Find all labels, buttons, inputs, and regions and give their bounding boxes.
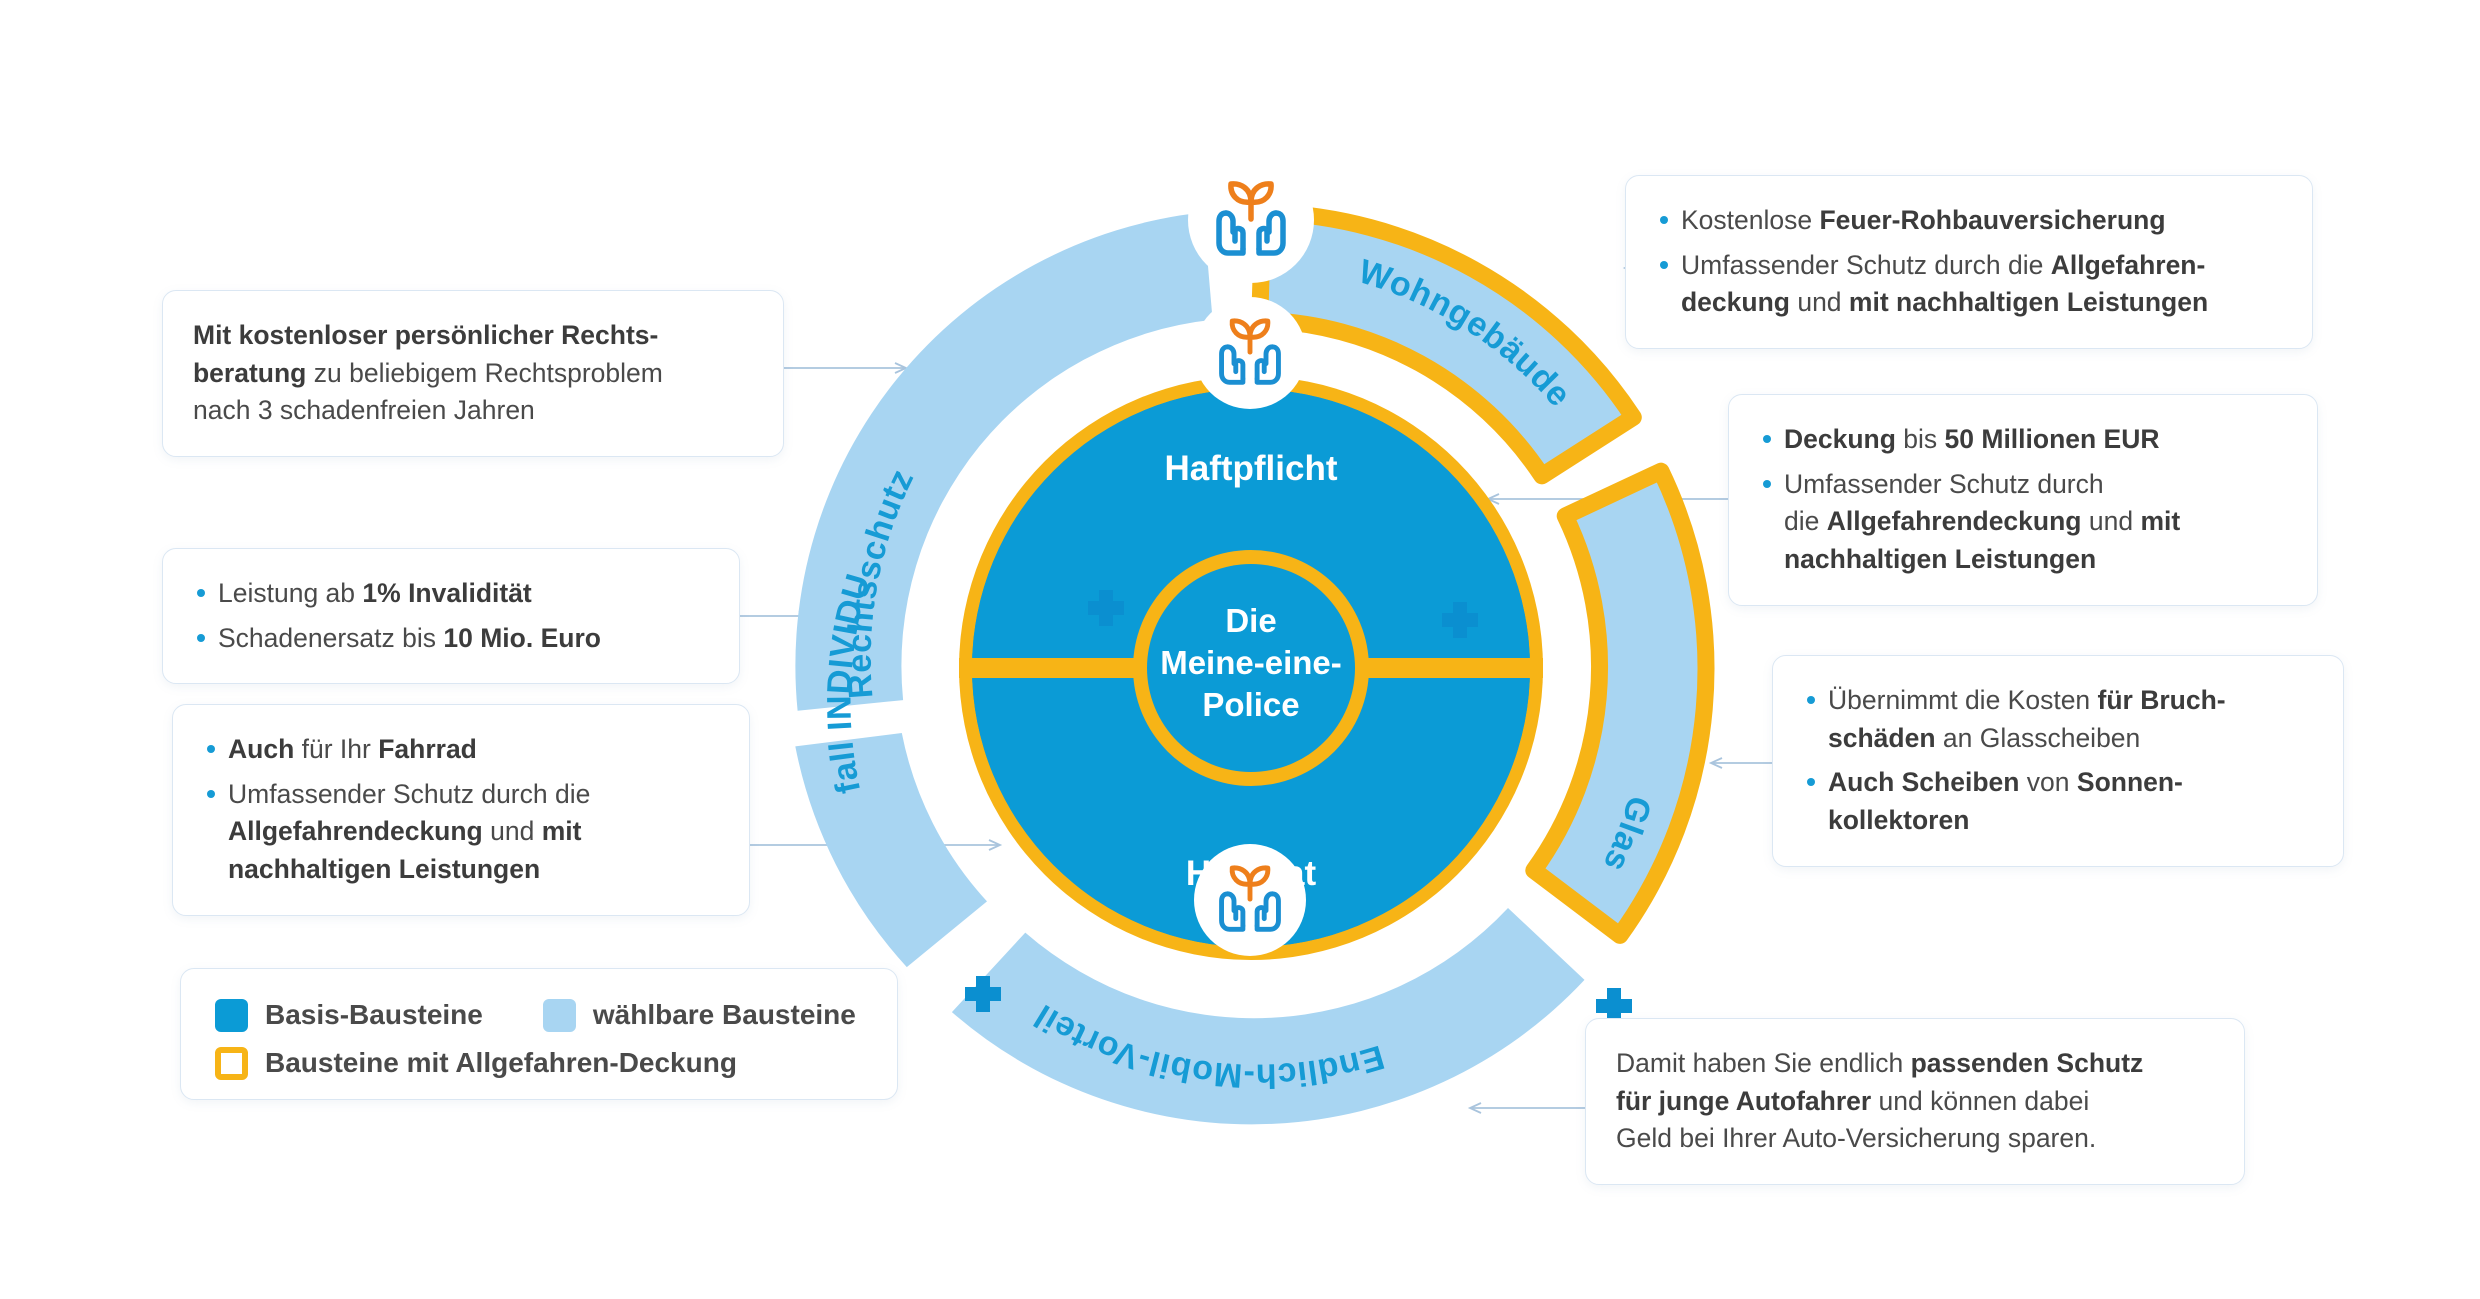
endlich-mobil-callout[interactable]: Damit haben Sie endlich passenden Schutz… xyxy=(1585,1018,2245,1185)
list-item: Umfassender Schutz durch dieAllgefahrend… xyxy=(203,776,719,889)
sustainability-icon-top xyxy=(1188,157,1314,283)
core-label-haftpflicht: Haftpflicht xyxy=(1164,449,1337,488)
list-item: Auch Scheiben von Sonnen-kollektoren xyxy=(1803,764,2313,839)
hub-label-line-1: Die xyxy=(1225,602,1276,639)
outer-segment-unfall[interactable] xyxy=(795,733,987,967)
glas-callout[interactable]: Übernimmt die Kosten für Bruch-schäden a… xyxy=(1772,655,2344,867)
list-item: Schadenersatz bis 10 Mio. Euro xyxy=(193,620,709,658)
legend-label-basis: Basis-Bausteine xyxy=(265,999,483,1031)
sustainability-icon-bottom xyxy=(1194,844,1306,956)
unfall-callout[interactable]: Leistung ab 1% Invalidität Schadenersatz… xyxy=(162,548,740,684)
list-item: Leistung ab 1% Invalidität xyxy=(193,575,709,613)
legend-swatch-waehlbar xyxy=(543,999,576,1032)
legend: Basis-Bausteine wählbare Bausteine Baust… xyxy=(180,968,898,1100)
infographic-canvas: Rechtsschutz Wohngebäude Glas Endlich-Mo… xyxy=(0,0,2480,1299)
hub-label-line-3: Police xyxy=(1202,686,1299,723)
callout-bullet-list: Deckung bis 50 Millionen EUR Umfassender… xyxy=(1759,421,2287,579)
callout-bullet-list: Auch für Ihr Fahrrad Umfassender Schutz … xyxy=(203,731,719,889)
legend-row-1: Basis-Bausteine wählbare Bausteine xyxy=(215,991,897,1039)
callout-bullet-list: Übernimmt die Kosten für Bruch-schäden a… xyxy=(1803,682,2313,840)
haftpflicht-callout[interactable]: Deckung bis 50 Millionen EUR Umfassender… xyxy=(1728,394,2318,606)
callout-bullet-list: Leistung ab 1% Invalidität Schadenersatz… xyxy=(193,575,709,657)
wohngebaeude-callout[interactable]: Kostenlose Feuer-Rohbauversicherung Umfa… xyxy=(1625,175,2313,349)
list-item: Umfassender Schutz durchdie Allgefahrend… xyxy=(1759,466,2287,579)
list-item: Auch für Ihr Fahrrad xyxy=(203,731,719,769)
legend-row-2: Bausteine mit Allgefahren-Deckung xyxy=(215,1039,897,1087)
list-item: Umfassender Schutz durch die Allgefahren… xyxy=(1656,247,2282,322)
legend-swatch-basis xyxy=(215,999,248,1032)
legend-swatch-allgefahren xyxy=(215,1047,248,1080)
callout-text: Damit haben Sie endlich passenden Schutz… xyxy=(1616,1045,2214,1158)
list-item: Übernimmt die Kosten für Bruch-schäden a… xyxy=(1803,682,2313,757)
list-item: Kostenlose Feuer-Rohbauversicherung xyxy=(1656,202,2282,240)
legend-label-waehlbar: wählbare Bausteine xyxy=(593,999,856,1031)
hausrat-callout[interactable]: Auch für Ihr Fahrrad Umfassender Schutz … xyxy=(172,704,750,916)
hub-label-line-2: Meine-eine- xyxy=(1160,644,1342,681)
callout-bullet-list: Kostenlose Feuer-Rohbauversicherung Umfa… xyxy=(1656,202,2282,322)
list-item: Deckung bis 50 Millionen EUR xyxy=(1759,421,2287,459)
sustainability-icon-middle xyxy=(1194,297,1306,409)
rechtsberatung-callout[interactable]: Mit kostenloser persönlicher Rechts-bera… xyxy=(162,290,784,457)
legend-label-allgefahren: Bausteine mit Allgefahren-Deckung xyxy=(265,1047,737,1079)
callout-text: Mit kostenloser persönlicher Rechts-bera… xyxy=(193,317,753,430)
